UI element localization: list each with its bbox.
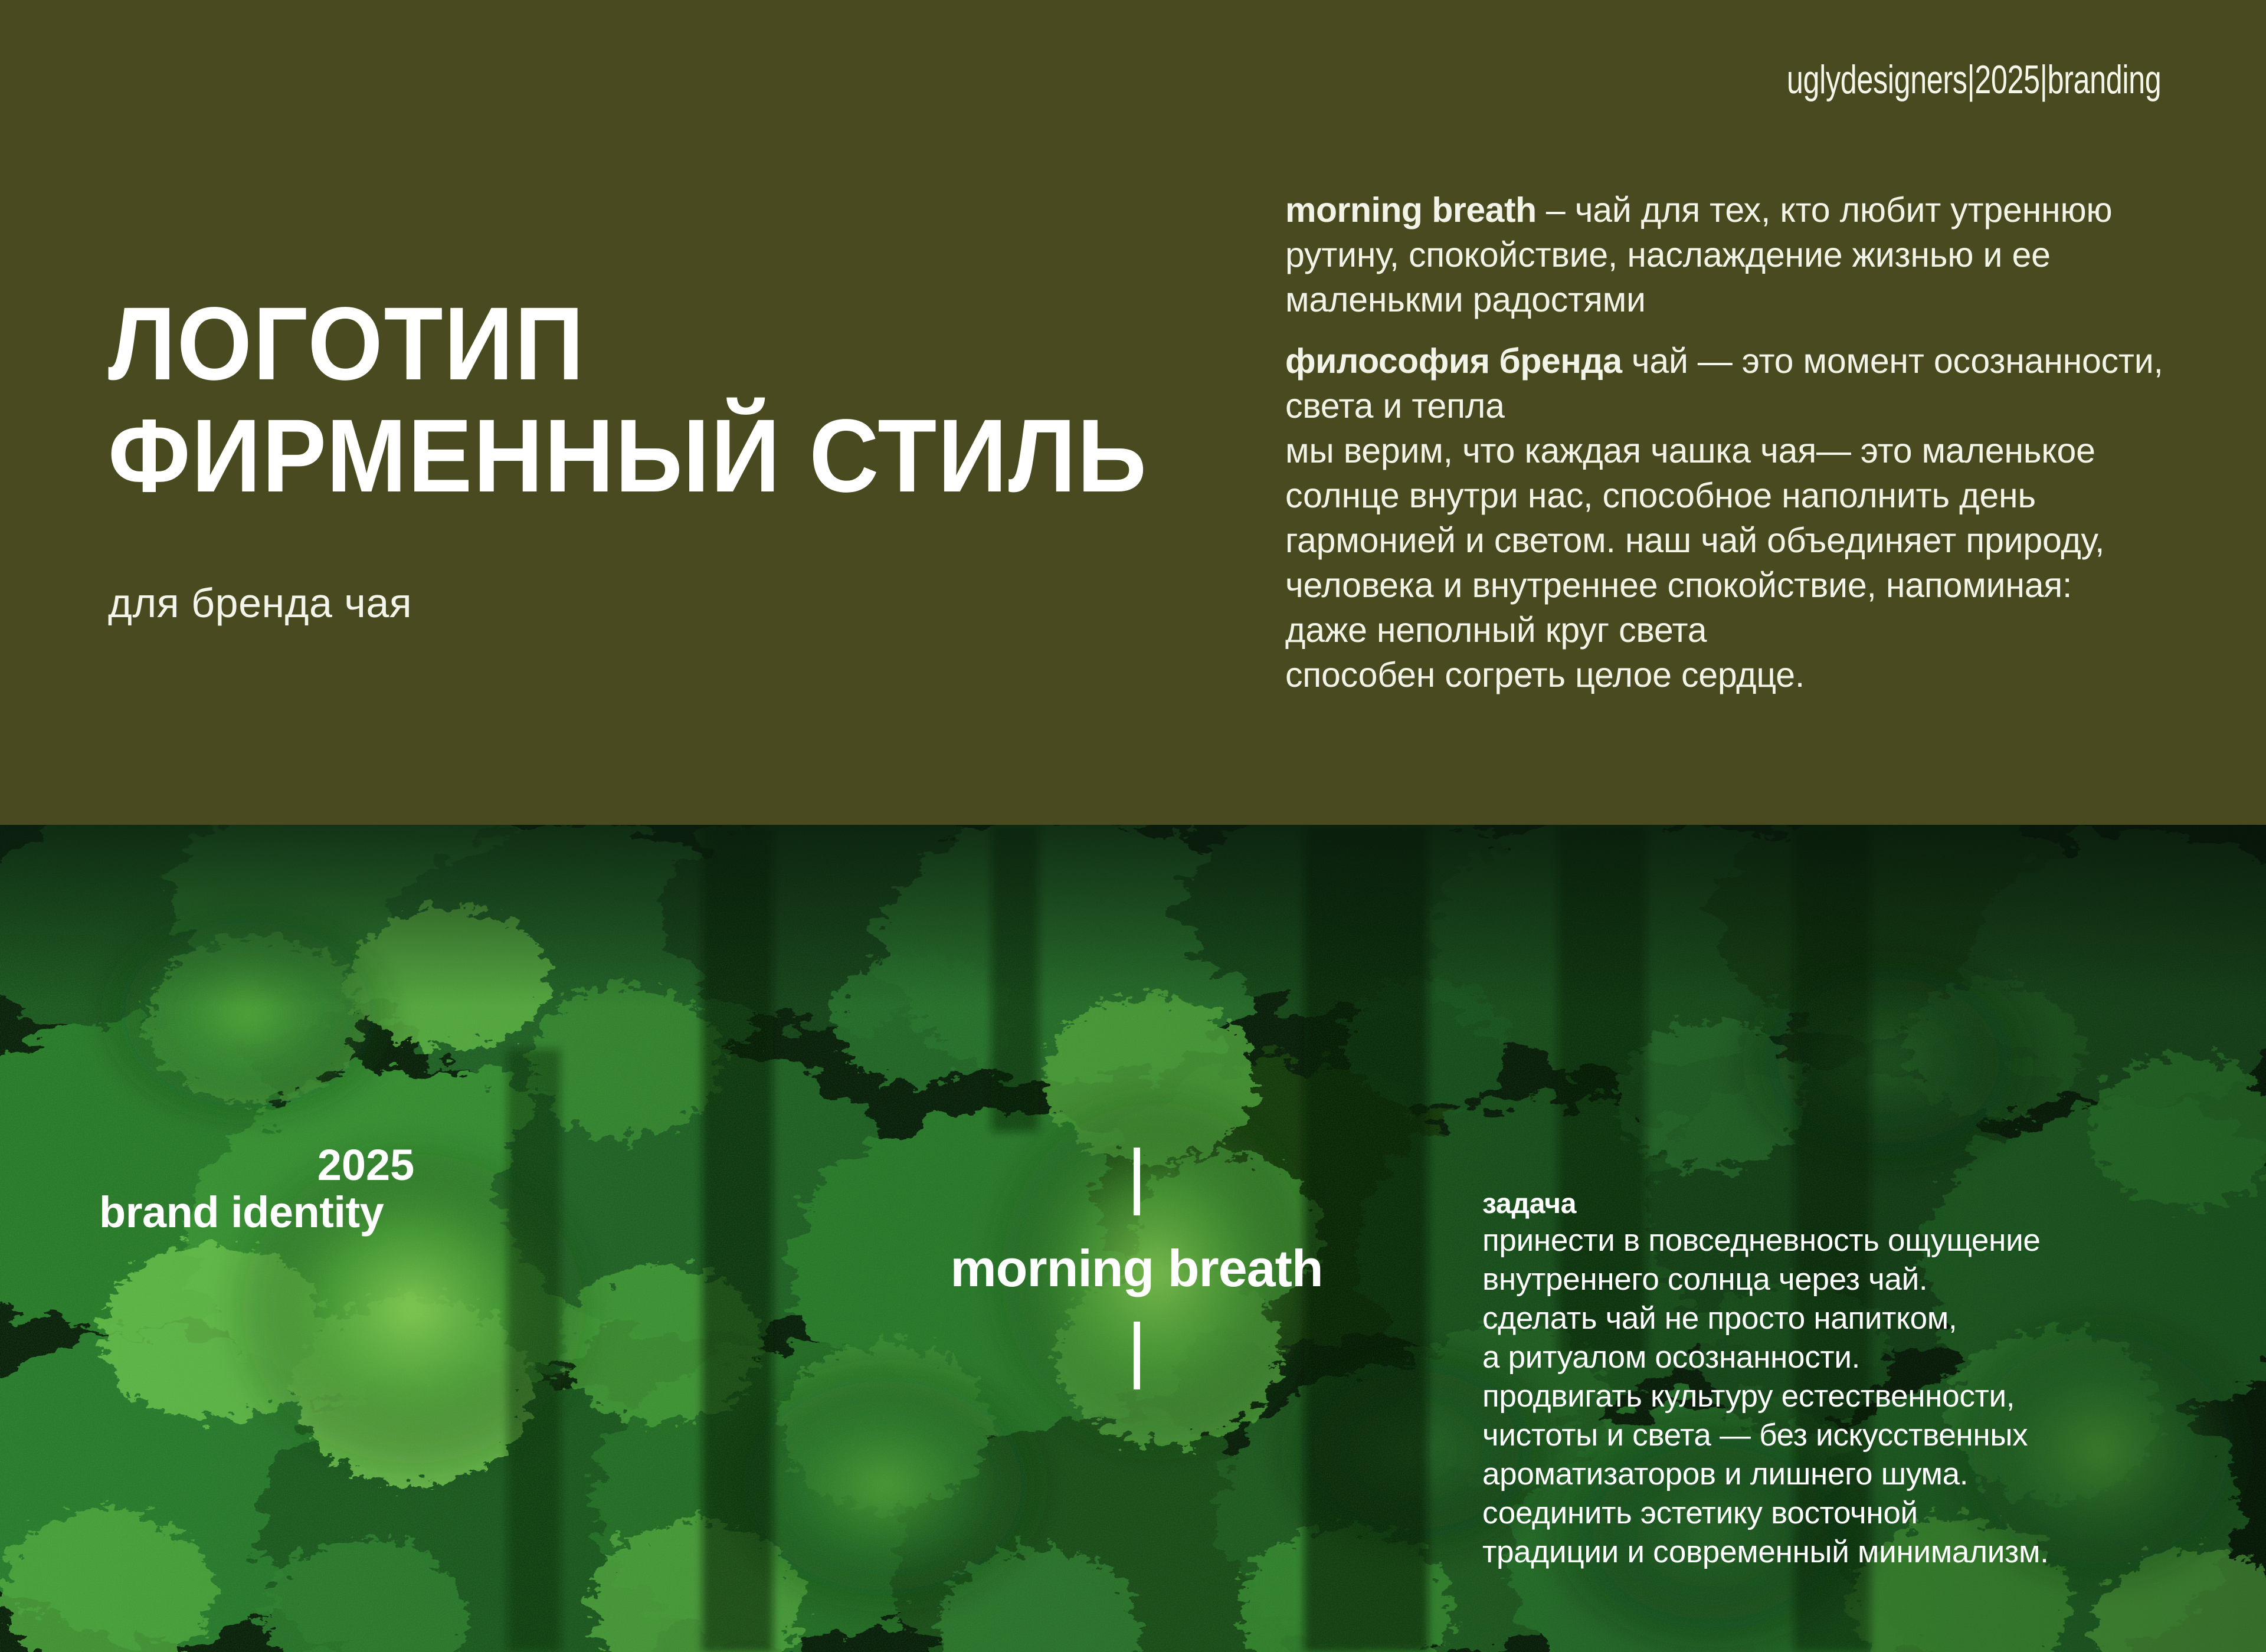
badge-label: brand identity <box>99 1187 384 1238</box>
philosophy-paragraph: философия бренда чай — это момент осозна… <box>1285 339 2170 697</box>
logo-lockup: morning breath <box>965 1148 1308 1389</box>
logo-wordmark: morning breath <box>950 1238 1322 1299</box>
tagline-paragraph: morning breath – чай для тех, кто любит … <box>1285 188 2170 322</box>
top-olive-panel: uglydesigners|2025|branding ЛОГОТИП ФИРМ… <box>0 0 2266 825</box>
task-block: задача принести в повседневность ощущени… <box>1482 1187 2249 1572</box>
page-title: ЛОГОТИП ФИРМЕННЫЙ СТИЛЬ <box>108 288 1288 512</box>
task-line: продвигать культуру естественности, <box>1482 1377 2249 1416</box>
task-line: ароматизаторов и лишнего шума. <box>1482 1455 2249 1494</box>
title-line-1: ЛОГОТИП <box>108 288 1206 400</box>
task-line: принести в повседневность ощущение <box>1482 1221 2249 1260</box>
logo-rule-bottom-icon <box>1134 1322 1140 1389</box>
task-heading: задача <box>1482 1187 2249 1221</box>
copy-column: morning breath – чай для тех, кто любит … <box>1285 188 2170 697</box>
presentation-slide: uglydesigners|2025|branding ЛОГОТИП ФИРМ… <box>0 0 2266 1652</box>
task-line: традиции и современный минимализм. <box>1482 1533 2249 1572</box>
title-line-2: ФИРМЕННЫЙ СТИЛЬ <box>108 400 1206 512</box>
header-kicker: uglydesigners|2025|branding <box>1787 57 2161 103</box>
task-lines: принести в повседневность ощущениевнутре… <box>1482 1221 2249 1572</box>
tagline-dash: – <box>1537 191 1575 230</box>
tagline-label: morning breath <box>1285 191 1537 230</box>
badge-year: 2025 <box>307 1142 425 1189</box>
logo-rule-top-icon <box>1134 1148 1140 1215</box>
page-subtitle: для бренда чая <box>108 581 412 625</box>
philosophy-body: чай — это момент осознанности, света и т… <box>1285 342 2163 694</box>
task-line: внутреннего солнца через чай. <box>1482 1260 2249 1299</box>
task-line: чистоты и света — без искусственных <box>1482 1416 2249 1455</box>
task-line: сделать чай не просто напитком, <box>1482 1299 2249 1338</box>
philosophy-label: философия бренда <box>1285 342 1622 381</box>
task-line: а ритуалом осознанности. <box>1482 1338 2249 1377</box>
task-line: соединить эстетику восточной <box>1482 1494 2249 1533</box>
